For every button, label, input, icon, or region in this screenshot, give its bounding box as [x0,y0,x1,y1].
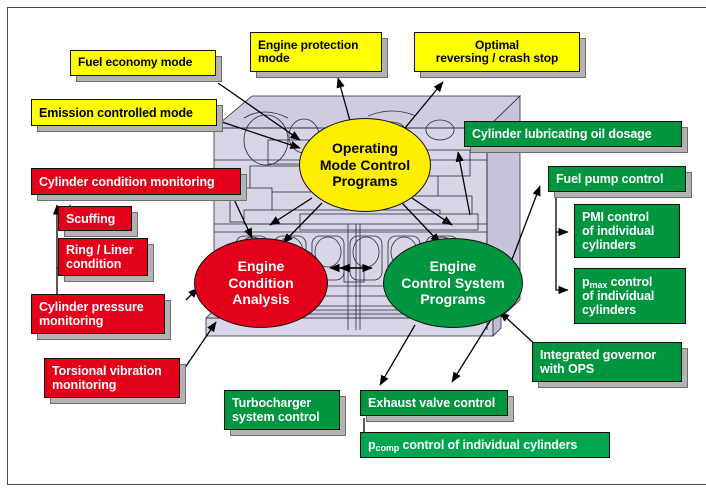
optimal-reversing-label-line2: reversing / crash stop [436,51,559,65]
optimal-reversing-box[interactable]: Optimal reversing / crash stop [414,32,580,72]
cylinder-condition-monitoring-box[interactable]: Cylinder condition monitoring [31,168,241,195]
integrated-governor-box[interactable]: Integrated governor with OPS [532,342,682,382]
operating-mode-control-programs-ellipse[interactable]: Operating Mode Control Programs [299,118,431,212]
engine-protection-mode-label-line2: mode [258,51,290,65]
engine-condition-analysis-ellipse[interactable]: Engine Condition Analysis [194,238,328,328]
turbocharger-system-control-box[interactable]: Turbocharger system control [224,390,340,430]
diagram-canvas: Fuel economy mode Engine protection mode… [0,0,706,492]
torsional-vibration-monitoring-box[interactable]: Torsional vibration monitoring [44,358,180,398]
cylinder-condition-monitoring-label: Cylinder condition monitoring [39,175,233,189]
cylinder-pressure-monitoring-label-line2: monitoring [39,314,103,328]
engine-condition-line2: Condition [228,275,293,291]
engine-control-line2: Control System [401,275,504,291]
scuffing-box[interactable]: Scuffing [58,206,132,231]
pcomp-subscript: comp [376,443,400,453]
torsional-vibration-monitoring-label-line2: monitoring [52,378,116,392]
emission-controlled-mode-label: Emission controlled mode [39,106,209,120]
pmi-control-label-line1: PMI control [582,210,649,224]
exhaust-valve-control-box[interactable]: Exhaust valve control [360,390,508,416]
optimal-reversing-label-line1: Optimal [475,38,519,52]
fuel-pump-control-box[interactable]: Fuel pump control [548,166,686,192]
turbocharger-system-control-label-line2: system control [232,410,320,424]
ring-liner-condition-box[interactable]: Ring / Liner condition [58,238,148,276]
engine-condition-line1: Engine [238,258,285,274]
pcomp-control-label: pcomp control of individual cylinders [368,438,602,452]
pmi-control-label-line2: of individual [582,224,654,238]
exhaust-valve-control-label: Exhaust valve control [368,396,500,410]
engine-control-system-programs-ellipse[interactable]: Engine Control System Programs [383,238,523,328]
operating-mode-line3: Programs [332,173,397,189]
fuel-economy-mode-box[interactable]: Fuel economy mode [70,50,216,76]
engine-control-line1: Engine [430,258,477,274]
cylinder-pressure-monitoring-label-line1: Cylinder pressure [39,300,144,314]
pmax-control-label-line3: cylinders [582,303,636,317]
pmax-control-label-line1: pmax control [582,275,652,289]
integrated-governor-label-line1: Integrated governor [540,348,656,362]
engine-protection-mode-box[interactable]: Engine protection mode [250,32,382,72]
pmax-subscript: max [590,280,608,290]
ring-liner-condition-label-line2: condition [66,257,121,271]
pmax-control-label-line2: of individual [582,289,654,303]
operating-mode-line1: Operating [332,140,398,156]
emission-controlled-mode-box[interactable]: Emission controlled mode [31,99,217,126]
fuel-economy-mode-label: Fuel economy mode [78,56,208,69]
engine-control-line3: Programs [420,291,485,307]
cylinder-pressure-monitoring-box[interactable]: Cylinder pressure monitoring [31,294,165,334]
engine-condition-line3: Analysis [232,291,290,307]
pmi-control-label-line3: cylinders [582,238,636,252]
pcomp-control-box[interactable]: pcomp control of individual cylinders [360,432,610,458]
scuffing-label: Scuffing [66,212,124,226]
pmi-control-box[interactable]: PMI control of individual cylinders [574,204,680,258]
turbocharger-system-control-label-line1: Turbocharger [232,396,311,410]
torsional-vibration-monitoring-label-line1: Torsional vibration [52,364,162,378]
operating-mode-line2: Mode Control [320,157,410,173]
fuel-pump-control-label: Fuel pump control [556,172,678,186]
engine-protection-mode-label-line1: Engine protection [258,38,358,52]
ring-liner-condition-label-line1: Ring / Liner [66,243,134,257]
cylinder-lubricating-oil-dosage-box[interactable]: Cylinder lubricating oil dosage [464,121,682,147]
integrated-governor-label-line2: with OPS [540,362,594,376]
pmax-control-box[interactable]: pmax control of individual cylinders [574,268,686,324]
cylinder-lubricating-oil-dosage-label: Cylinder lubricating oil dosage [472,127,674,141]
